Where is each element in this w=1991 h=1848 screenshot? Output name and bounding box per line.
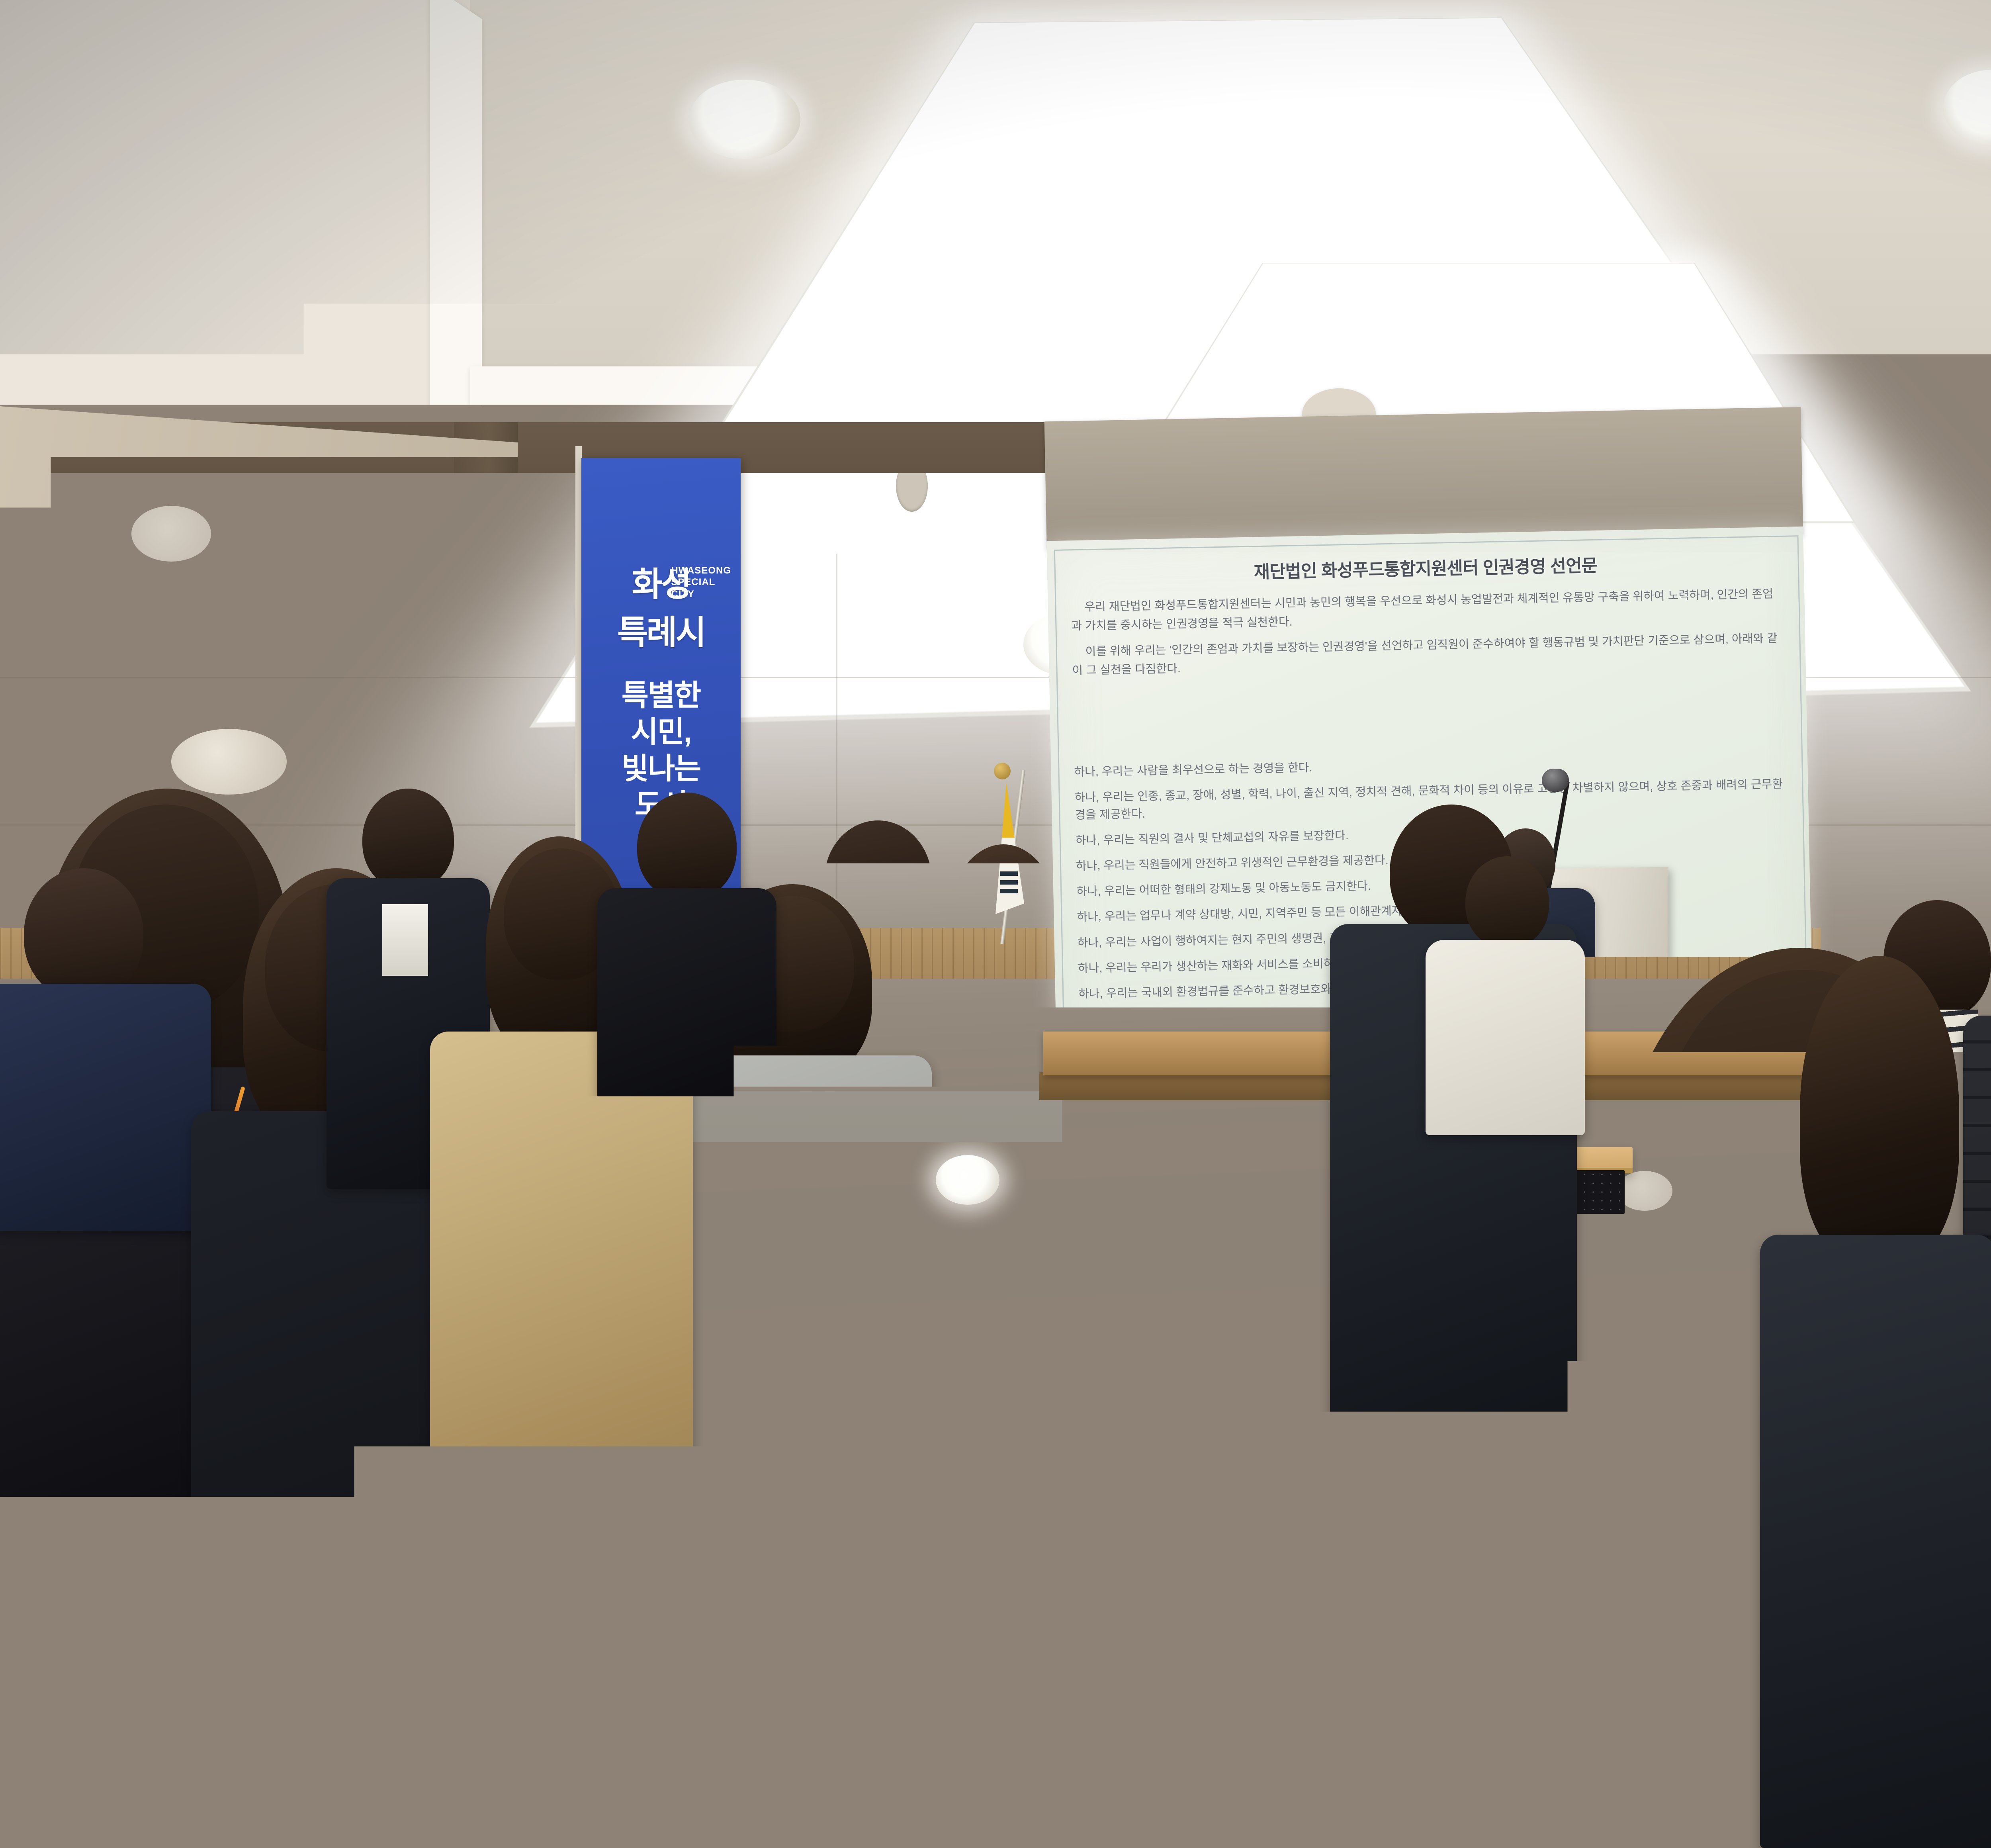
microphone-icon [1542,769,1569,792]
flag-finial [994,763,1011,779]
banner-en-line1: HWASEONG [671,565,731,576]
wall-speaker-left [212,498,311,617]
audience-person [908,844,1095,1378]
banner-english-text: HWASEONG SPECIAL CITY [671,565,731,600]
audience-person [1768,956,1983,1848]
banner-en-line2: SPECIAL [671,576,731,588]
audience-person [0,868,207,1227]
ceiling [0,0,1991,470]
slide-paragraph: 이를 위해 우리는 '인간의 존엄과 가치를 보장하는 인권경영'을 선언하고 … [1072,629,1785,680]
banner-slogan-line3: 빛나는 [581,750,741,787]
paper-cup[interactable] [956,1394,988,1440]
conference-room-photo: 내 삶을 바꾸는 희망 화성 민선 8기 시정 화성 특례시 HWASEONG … [0,0,1991,1848]
audience-person-hooded-jacket [1075,812,1274,1398]
screen-shade [1044,407,1803,549]
audience-person-foreground [0,1597,470,1848]
fire-equipment-sign [398,739,423,778]
shoe [1179,1362,1258,1400]
tumbler-handle [729,1537,776,1664]
banner-en-line3: CITY [671,588,731,600]
downlight-icon [689,80,800,159]
banner-slogan-line2: 시민, [581,714,741,750]
slide-body: 우리 재단법인 화성푸드통합지원센터는 시민과 농민의 행복을 우선으로 화성시… [1071,585,1785,687]
banner-logo-line2: 특례시 [617,614,705,651]
audience-person [1426,856,1585,1135]
audience-person [589,793,780,1095]
shoe [1091,1366,1171,1404]
banner-slogan-line1: 특별한 [581,677,741,714]
